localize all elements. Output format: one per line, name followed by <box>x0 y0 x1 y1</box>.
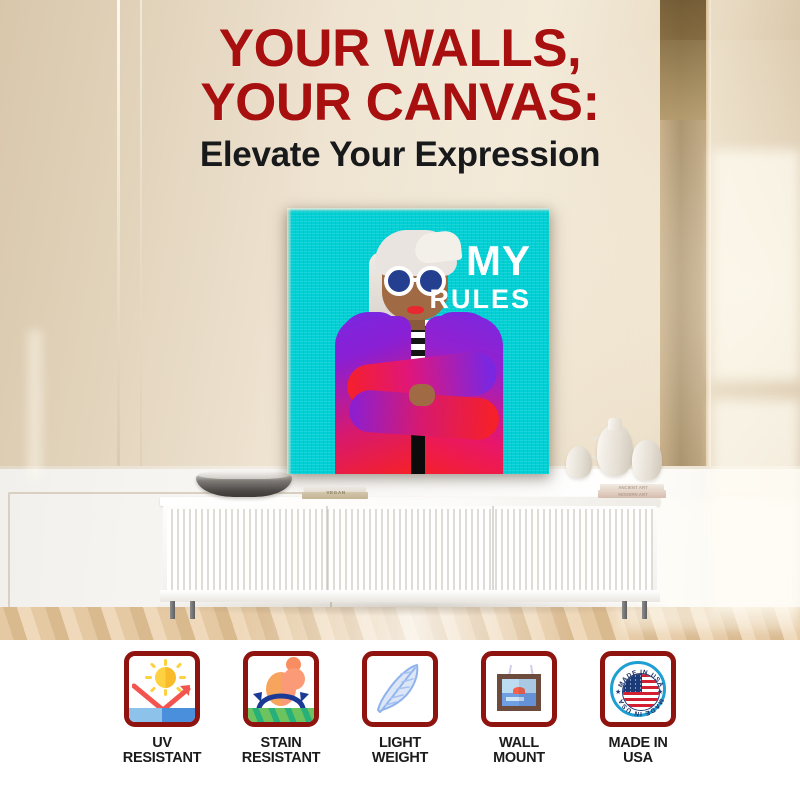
lips <box>407 306 424 314</box>
book-label-vegan: VEGAN <box>312 490 360 496</box>
feature-label-light-weight: LIGHT WEIGHT <box>372 736 428 766</box>
label-line-1: STAIN <box>242 736 320 751</box>
fluted-front <box>167 509 653 590</box>
picture-frame <box>497 674 541 711</box>
label-line-2: RESISTANT <box>242 751 320 766</box>
feature-badge-light-weight[interactable]: LIGHT WEIGHT <box>355 651 445 766</box>
label-line-1: MADE IN <box>608 736 667 751</box>
headline-line-1: YOUR WALLS, <box>0 22 800 76</box>
feather-icon <box>362 651 438 727</box>
sideboard-leg <box>642 601 647 619</box>
water-left <box>129 708 162 722</box>
decor-vase-neck <box>608 418 622 430</box>
hand <box>409 384 435 406</box>
decor-bowl-rim <box>198 471 290 479</box>
seal-text: MADE IN USA MADE IN USA <box>613 664 669 720</box>
artwork-text-my: MY <box>466 240 531 282</box>
decor-vase <box>597 424 633 476</box>
label-line-1: LIGHT <box>372 736 428 751</box>
sideboard-leg <box>170 601 175 619</box>
label-line-2: WEIGHT <box>372 751 428 766</box>
seal-ring: ★ ★ MADE IN USA MADE IN USA <box>610 661 666 717</box>
sun-ray <box>179 676 186 679</box>
feature-strip: UV RESISTANT STAI <box>0 640 800 800</box>
frame-shade <box>519 679 536 706</box>
framed-picture-icon <box>481 651 557 727</box>
feature-label-wall-mount: WALL MOUNT <box>493 736 545 766</box>
cabinet-seam <box>326 506 328 593</box>
sunglasses-bridge <box>412 278 420 282</box>
seal-text-bottom: MADE IN USA <box>617 697 664 717</box>
label-line-2: RESISTANT <box>123 751 201 766</box>
headline-subtitle: Elevate Your Expression <box>0 130 800 180</box>
stain-droplets-icon <box>243 651 319 727</box>
sideboard-base <box>160 590 660 602</box>
label-line-2: USA <box>608 751 667 766</box>
window-light-patch <box>28 330 42 480</box>
sideboard-leg <box>190 601 195 619</box>
feature-badge-stain-resistant[interactable]: STAIN RESISTANT <box>236 651 326 766</box>
sun-ray <box>150 662 156 668</box>
canvas-edge-left <box>287 208 292 474</box>
decor-vase <box>632 440 662 480</box>
feature-label-stain-resistant: STAIN RESISTANT <box>242 736 320 766</box>
sun-ray <box>145 676 152 679</box>
sideboard <box>160 497 660 609</box>
feature-label-made-in-usa: MADE IN USA <box>608 736 667 766</box>
feature-badge-uv-resistant[interactable]: UV RESISTANT <box>117 651 207 766</box>
sun-ray <box>176 662 182 668</box>
artwork-text-rules: RULES <box>429 286 531 313</box>
promo-image: VEGAN ANCIENT ART MODERN ART <box>0 0 800 800</box>
feature-badge-wall-mount[interactable]: WALL MOUNT <box>474 651 564 766</box>
label-line-1: UV <box>123 736 201 751</box>
seal-text-top: MADE IN USA <box>617 669 664 689</box>
fabric-surface <box>248 708 314 722</box>
feather-glyph <box>367 656 433 722</box>
sideboard-body <box>163 506 657 593</box>
sun-ray <box>164 659 167 666</box>
sideboard-leg <box>622 601 627 619</box>
book-label-modern-art: MODERN ART <box>606 491 660 498</box>
water-right <box>162 708 195 722</box>
sunglasses-lens-left <box>384 266 414 296</box>
canvas-artwork: MY RULES <box>287 208 549 474</box>
feature-badge-made-in-usa[interactable]: ★ ★ MADE IN USA MADE IN USA <box>593 651 683 766</box>
sideboard-top <box>160 497 660 506</box>
uv-sun-reflect-icon <box>124 651 200 727</box>
headline-line-2: YOUR CANVAS: <box>0 76 800 130</box>
headline-block: YOUR WALLS, YOUR CANVAS: Elevate Your Ex… <box>0 22 800 180</box>
feature-label-uv-resistant: UV RESISTANT <box>123 736 201 766</box>
window-light-patch <box>712 150 800 380</box>
made-in-usa-seal-icon: ★ ★ MADE IN USA MADE IN USA <box>600 651 676 727</box>
feature-badge-list: UV RESISTANT STAI <box>0 640 800 766</box>
label-line-2: MOUNT <box>493 751 545 766</box>
canvas-edge-top <box>287 208 549 212</box>
label-line-1: WALL <box>493 736 545 751</box>
cabinet-seam <box>492 506 494 593</box>
